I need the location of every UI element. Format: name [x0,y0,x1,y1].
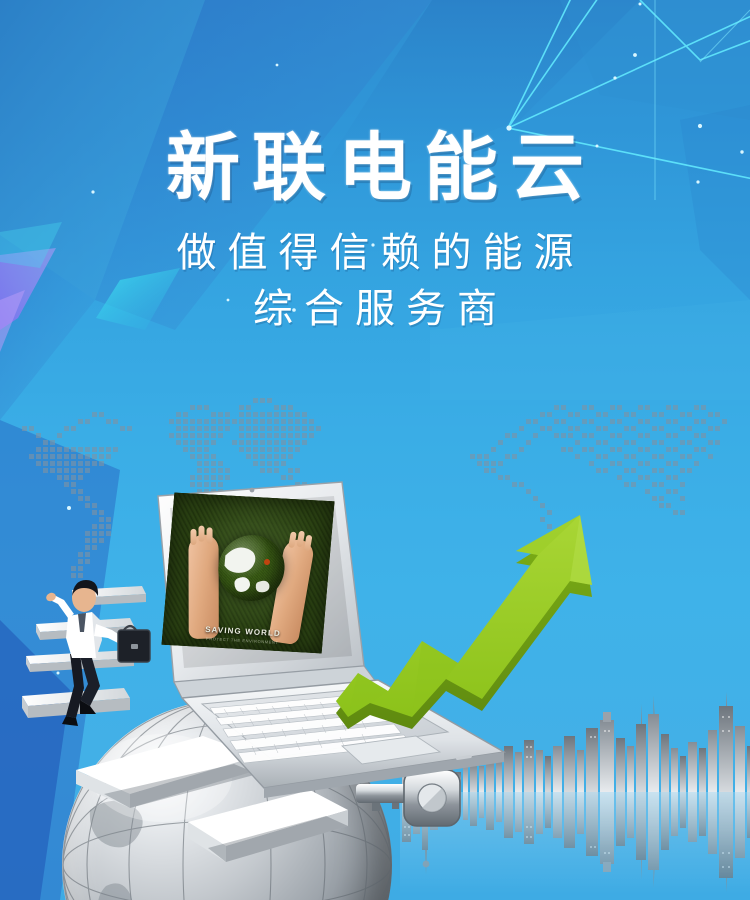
businessman-climbing-stairs [18,568,198,760]
promotional-banner: 新联电能云 做值得信赖的能源 综合服务商 [0,0,750,900]
headline-block: 新联电能云 做值得信赖的能源 综合服务商 [0,126,750,336]
page-title: 新联电能云 [0,126,750,210]
growth-arrow [330,515,700,735]
subtitle-line-2: 综合服务商 [0,282,750,336]
grass-globe-icon [216,533,288,603]
subtitle-line-1: 做值得信赖的能源 [0,226,750,280]
